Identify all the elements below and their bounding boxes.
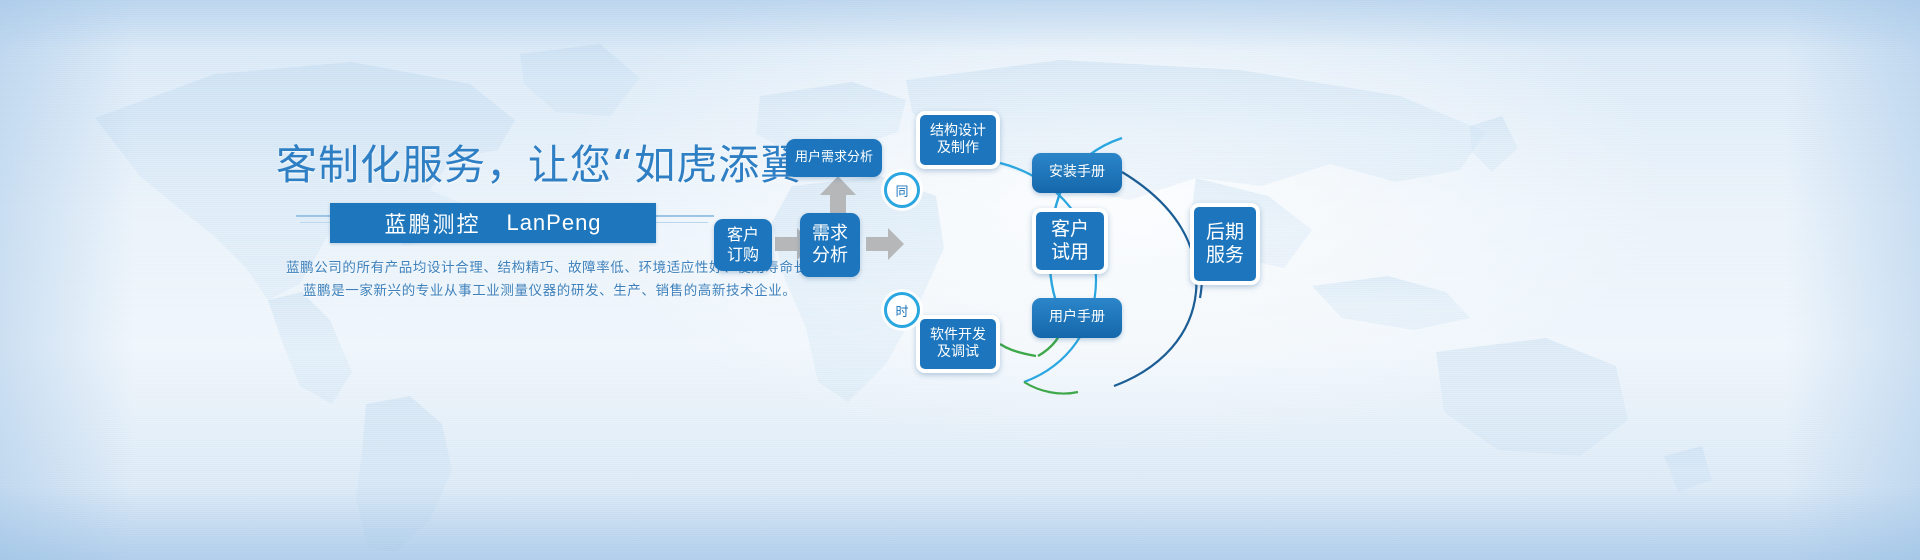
flow-node-after-service[interactable]: 后期 服务	[1190, 203, 1260, 285]
flow-badge-tong: 同	[884, 172, 920, 208]
flow-node-label: 用户需求分析	[795, 150, 873, 166]
flow-node-label-line1: 后期	[1206, 221, 1244, 244]
banner-stage: 客制化服务，让您“如虎添翼” 蓝鹏测控 LanPeng 蓝鹏公司的所有产品均设计…	[0, 0, 1920, 560]
flow-node-software-dev[interactable]: 软件开发 及调试	[916, 315, 1000, 373]
flow-node-user-demand-analysis[interactable]: 用户需求分析	[786, 139, 882, 177]
flow-node-label-line1: 需求	[812, 223, 848, 245]
flow-node-structure-design[interactable]: 结构设计 及制作	[916, 111, 1000, 169]
flow-node-label-line2: 试用	[1051, 241, 1089, 264]
flow-node-label-line1: 软件开发	[930, 327, 986, 344]
flow-node-label-line1: 客户	[727, 225, 759, 245]
flow-node-label-line2: 及制作	[937, 140, 979, 157]
flow-node-label-line1: 结构设计	[930, 123, 986, 140]
flow-arcs	[0, 0, 1920, 560]
flow-node-label-line1: 客户	[1051, 218, 1089, 241]
flow-node-label-line2: 分析	[812, 245, 848, 267]
flow-node-customer-order[interactable]: 客户 订购	[714, 219, 772, 271]
flow-node-user-manual[interactable]: 用户手册	[1032, 298, 1122, 338]
flow-badge-label: 同	[895, 181, 908, 200]
flow-node-label-line2: 服务	[1206, 244, 1244, 267]
flow-node-label-line2: 订购	[727, 245, 759, 265]
flow-node-label: 用户手册	[1049, 309, 1105, 326]
arrow-analysis-to-cycle	[866, 228, 904, 260]
flow-node-customer-trial[interactable]: 客户 试用	[1032, 208, 1108, 274]
flow-node-label-line2: 及调试	[937, 344, 979, 361]
flow-node-install-manual[interactable]: 安装手册	[1032, 153, 1122, 193]
flow-badge-shi: 时	[884, 292, 920, 328]
flow-node-demand-analysis[interactable]: 需求 分析	[800, 213, 860, 277]
flow-badge-label: 时	[895, 301, 908, 320]
flow-node-label: 安装手册	[1049, 164, 1105, 181]
